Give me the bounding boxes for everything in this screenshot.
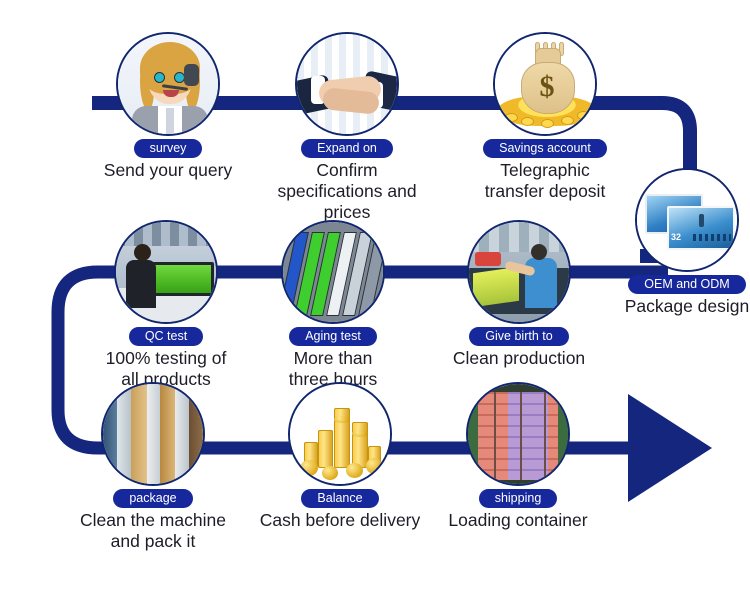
headset-agent-icon — [116, 32, 220, 136]
step-badge: shipping — [479, 489, 558, 508]
step-badge: Expand on — [301, 139, 393, 158]
money-bag-icon: $ — [493, 32, 597, 136]
qc-inspection-icon — [114, 220, 218, 324]
step-icon-wrap: $ — [493, 32, 597, 136]
flowchart-canvas: survey Send your query Expand on Confirm… — [0, 0, 750, 598]
flow-arrow-head — [628, 394, 712, 502]
step-icon-wrap — [116, 32, 220, 136]
step-badge: Give birth to — [469, 327, 568, 346]
step-shipping[interactable]: shipping Loading container — [423, 382, 613, 531]
tv-monitor-icon: 32 — [635, 168, 739, 272]
step-caption: Cash before delivery — [245, 510, 435, 531]
step-qc-test[interactable]: QC test 100% testing of all products — [71, 220, 261, 390]
step-caption: Confirm specifications and prices — [252, 160, 442, 223]
assembly-line-icon — [467, 220, 571, 324]
packaged-goods-icon — [101, 382, 205, 486]
handshake-icon — [295, 32, 399, 136]
step-package[interactable]: package Clean the machine and pack it — [58, 382, 248, 552]
step-icon-wrap — [101, 382, 205, 486]
step-badge: Aging test — [289, 327, 377, 346]
loaded-container-icon — [466, 382, 570, 486]
step-icon-wrap — [288, 382, 392, 486]
step-aging-test[interactable]: Aging test More than three hours — [238, 220, 428, 390]
step-icon-wrap — [281, 220, 385, 324]
step-badge: survey — [134, 139, 203, 158]
step-icon-wrap — [295, 32, 399, 136]
gold-coins-icon — [288, 382, 392, 486]
step-icon-wrap — [466, 382, 570, 486]
step-icon-wrap — [467, 220, 571, 324]
tv-size-label: 32 — [671, 232, 681, 242]
step-badge: OEM and ODM — [628, 275, 745, 294]
step-balance[interactable]: Balance Cash before delivery — [245, 382, 435, 531]
step-caption: Loading container — [423, 510, 613, 531]
step-survey[interactable]: survey Send your query — [73, 32, 263, 181]
step-badge: Savings account — [483, 139, 607, 158]
step-caption: Clean the machine and pack it — [58, 510, 248, 552]
step-caption: Package design — [592, 296, 750, 317]
step-badge: QC test — [129, 327, 203, 346]
step-icon-wrap: 32 — [635, 168, 739, 272]
step-give-birth-to[interactable]: Give birth to Clean production — [424, 220, 614, 369]
step-oem-odm[interactable]: 32 OEM and ODM Package design — [592, 168, 750, 317]
step-icon-wrap — [114, 220, 218, 324]
step-caption: Clean production — [424, 348, 614, 369]
step-badge: Balance — [301, 489, 378, 508]
step-expand-on[interactable]: Expand on Confirm specifications and pri… — [252, 32, 442, 223]
step-caption: Send your query — [73, 160, 263, 181]
dollar-sign: $ — [495, 70, 597, 104]
aging-rack-icon — [281, 220, 385, 324]
step-badge: package — [113, 489, 192, 508]
